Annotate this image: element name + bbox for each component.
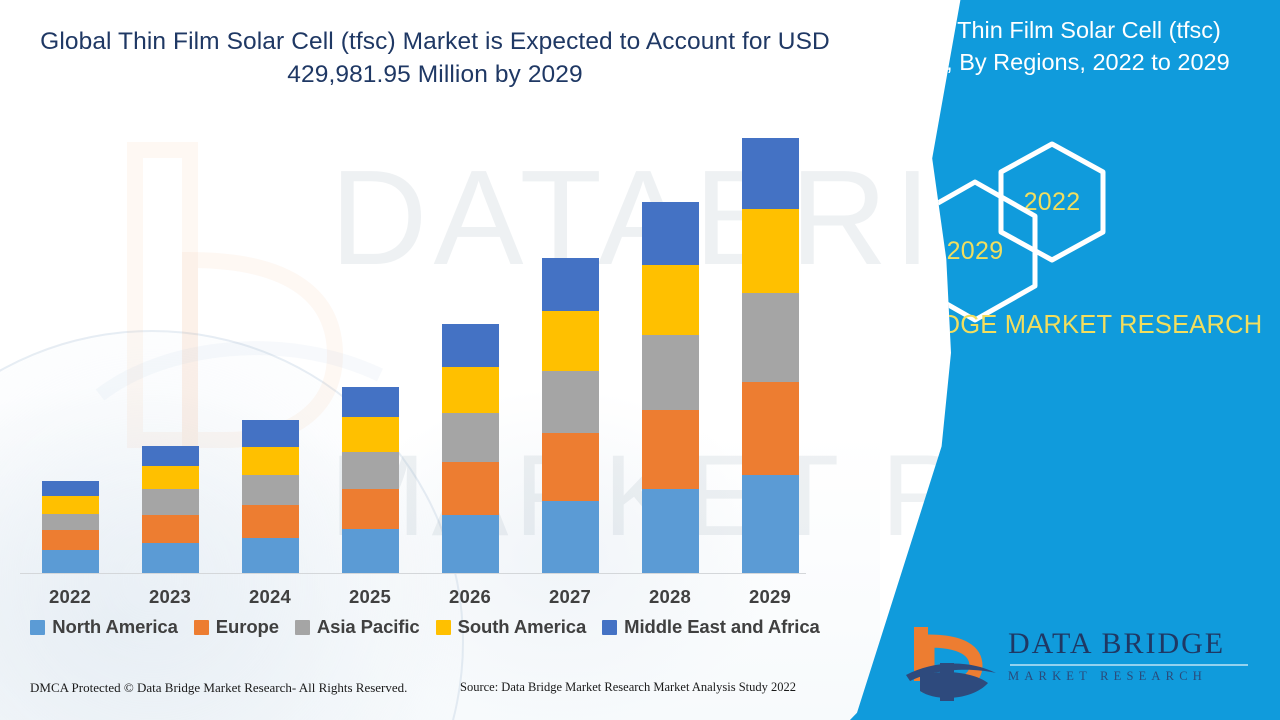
- bar-segment[interactable]: [642, 335, 699, 410]
- legend-swatch-icon: [436, 620, 451, 635]
- bar-segment[interactable]: [642, 489, 699, 573]
- legend-item[interactable]: South America: [436, 616, 587, 638]
- panel-brand-text: DATA BRIDGE MARKET RESEARCH: [825, 308, 1265, 343]
- x-axis-label: 2026: [420, 586, 520, 608]
- stacked-bar[interactable]: [742, 138, 799, 573]
- x-axis-label: 2022: [20, 586, 120, 608]
- brand-logo-words: DATA BRIDGE MARKET RESEARCH: [1008, 629, 1258, 684]
- bar-slot: [720, 130, 820, 573]
- x-axis-label: 2025: [320, 586, 420, 608]
- bar-segment[interactable]: [642, 265, 699, 335]
- bar-slot: [120, 130, 220, 573]
- bar-segment[interactable]: [642, 410, 699, 489]
- bar-segment[interactable]: [542, 501, 599, 573]
- bar-segment[interactable]: [742, 138, 799, 209]
- stacked-bar[interactable]: [642, 202, 699, 573]
- x-axis-label: 2028: [620, 586, 720, 608]
- bar-segment[interactable]: [142, 489, 199, 515]
- legend-label: Asia Pacific: [317, 616, 420, 638]
- footer-source-text: Source: Data Bridge Market Research Mark…: [460, 680, 796, 695]
- bar-segment[interactable]: [42, 530, 99, 550]
- bar-slot: [220, 130, 320, 573]
- bar-segment[interactable]: [42, 496, 99, 513]
- bar-segment[interactable]: [242, 538, 299, 573]
- brand-logo-main-text: DATA BRIDGE: [1008, 629, 1258, 659]
- page-title: Global Thin Film Solar Cell (tfsc) Marke…: [40, 26, 830, 92]
- bar-segment[interactable]: [242, 447, 299, 475]
- bar-segment[interactable]: [342, 452, 399, 489]
- bar-segment[interactable]: [742, 293, 799, 382]
- stacked-bar[interactable]: [142, 446, 199, 573]
- bar-segment[interactable]: [142, 515, 199, 543]
- bar-segment[interactable]: [542, 371, 599, 433]
- bar-segment[interactable]: [42, 514, 99, 530]
- stacked-bar[interactable]: [442, 324, 499, 573]
- hexagon-badge-2029: 2029: [905, 176, 1045, 326]
- stacked-bar[interactable]: [542, 258, 599, 573]
- legend-label: North America: [52, 616, 178, 638]
- legend-swatch-icon: [602, 620, 617, 635]
- legend-label: South America: [458, 616, 587, 638]
- bar-segment[interactable]: [342, 417, 399, 452]
- bar-segment[interactable]: [442, 462, 499, 514]
- legend-swatch-icon: [30, 620, 45, 635]
- x-axis-labels: 20222023202420252026202720282029: [20, 586, 820, 608]
- x-axis-label: 2027: [520, 586, 620, 608]
- bar-segment[interactable]: [242, 505, 299, 538]
- infographic-root: DATABRIDGE MARKET RESEARCH Global Thin F…: [0, 0, 1280, 720]
- panel-title: Global Thin Film Solar Cell (tfsc) Marke…: [852, 14, 1252, 79]
- bar-segment[interactable]: [642, 202, 699, 265]
- bar-segment[interactable]: [142, 446, 199, 466]
- x-axis-label: 2029: [720, 586, 820, 608]
- bar-segment[interactable]: [442, 324, 499, 367]
- stacked-bar[interactable]: [242, 420, 299, 573]
- legend-item[interactable]: Middle East and Africa: [602, 616, 820, 638]
- bar-segment[interactable]: [442, 367, 499, 414]
- bar-slot: [320, 130, 420, 573]
- hexagon-badges: 2022 2029: [830, 112, 1260, 302]
- bar-segment[interactable]: [142, 466, 199, 489]
- brand-logo-sub-text: MARKET RESEARCH: [1008, 669, 1258, 684]
- x-axis-label: 2024: [220, 586, 320, 608]
- bar-segment[interactable]: [342, 387, 399, 417]
- x-axis-line: [20, 573, 806, 574]
- bar-slot: [20, 130, 120, 573]
- legend-swatch-icon: [295, 620, 310, 635]
- legend-swatch-icon: [194, 620, 209, 635]
- legend-label: Middle East and Africa: [624, 616, 820, 638]
- bar-slot: [620, 130, 720, 573]
- legend-item[interactable]: North America: [30, 616, 178, 638]
- footer: DMCA Protected © Data Bridge Market Rese…: [0, 678, 850, 706]
- brand-logo-divider: [1010, 664, 1248, 666]
- x-axis-label: 2023: [120, 586, 220, 608]
- legend-item[interactable]: Europe: [194, 616, 279, 638]
- brand-logo-mark-icon: [904, 623, 1000, 703]
- bar-segment[interactable]: [742, 382, 799, 475]
- bar-segment[interactable]: [242, 420, 299, 447]
- legend-item[interactable]: Asia Pacific: [295, 616, 420, 638]
- brand-logo: DATA BRIDGE MARKET RESEARCH: [828, 615, 1258, 710]
- chart-plot-area: [20, 130, 820, 574]
- hexagon-badge-2029-label: 2029: [947, 237, 1004, 266]
- bar-slot: [520, 130, 620, 573]
- bar-segment[interactable]: [42, 481, 99, 496]
- bar-segment[interactable]: [342, 489, 399, 529]
- bar-segment[interactable]: [742, 209, 799, 293]
- bar-slot: [420, 130, 520, 573]
- bar-segment[interactable]: [42, 550, 99, 573]
- bar-segment[interactable]: [542, 311, 599, 372]
- legend-label: Europe: [216, 616, 279, 638]
- right-brand-panel-inner: Global Thin Film Solar Cell (tfsc) Marke…: [810, 0, 1280, 720]
- right-brand-panel: Global Thin Film Solar Cell (tfsc) Marke…: [810, 0, 1280, 720]
- bar-segment[interactable]: [142, 543, 199, 573]
- bar-segment[interactable]: [742, 475, 799, 573]
- bar-segment[interactable]: [542, 433, 599, 501]
- bar-segment[interactable]: [342, 529, 399, 573]
- bar-segment[interactable]: [442, 413, 499, 462]
- chart-legend: North AmericaEuropeAsia PacificSouth Ame…: [20, 616, 830, 638]
- bar-segment[interactable]: [242, 475, 299, 505]
- bar-segment[interactable]: [542, 258, 599, 310]
- footer-dmca-text: DMCA Protected © Data Bridge Market Rese…: [30, 680, 407, 696]
- stacked-bar[interactable]: [42, 481, 99, 573]
- bar-segment[interactable]: [442, 515, 499, 573]
- stacked-bar[interactable]: [342, 387, 399, 573]
- bar-group: [20, 130, 820, 573]
